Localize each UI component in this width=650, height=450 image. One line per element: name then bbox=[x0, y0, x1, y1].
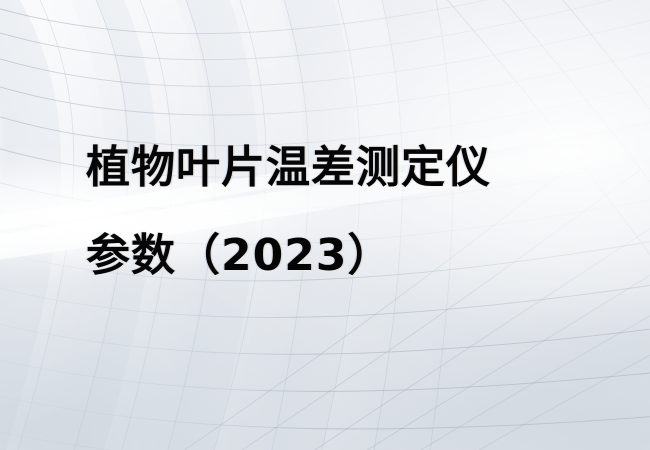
title-card-banner: 植物叶片温差测定仪 参数（2023） bbox=[0, 0, 650, 450]
title-line-2: 参数（2023） bbox=[86, 212, 606, 300]
title-block: 植物叶片温差测定仪 参数（2023） bbox=[86, 124, 606, 300]
title-line-1: 植物叶片温差测定仪 bbox=[86, 124, 606, 212]
